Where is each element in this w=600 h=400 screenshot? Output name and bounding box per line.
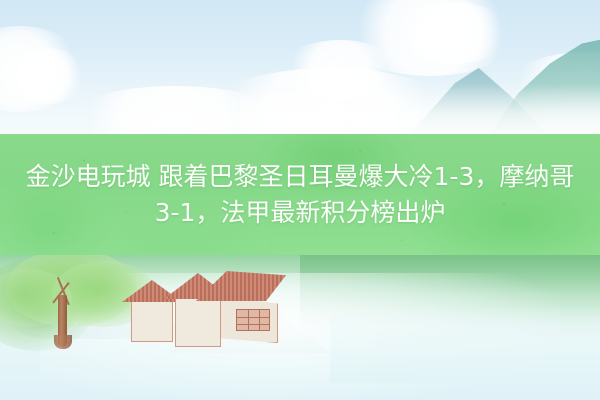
house-wing-wall xyxy=(131,299,173,342)
window-bar xyxy=(237,324,269,325)
house-window xyxy=(236,309,270,331)
headline-text: 金沙电玩城 跟着巴黎圣日耳曼爆大冷1-3，摩纳哥3-1，法甲最新积分榜出炉 xyxy=(12,159,588,231)
sky-background xyxy=(0,0,600,150)
headline-band: 金沙电玩城 跟着巴黎圣日耳曼爆大冷1-3，摩纳哥3-1，法甲最新积分榜出炉 xyxy=(0,134,600,255)
tree-trunk-base xyxy=(54,335,72,349)
window-bar xyxy=(248,310,249,330)
window-bar xyxy=(237,317,269,318)
foreground-scene xyxy=(0,255,600,400)
ground-mist xyxy=(330,307,600,383)
house-front-wall xyxy=(175,295,221,347)
window-bar xyxy=(259,310,260,330)
article-thumbnail-banner: 金沙电玩城 跟着巴黎圣日耳曼爆大冷1-3，摩纳哥3-1，法甲最新积分榜出炉 xyxy=(0,0,600,400)
